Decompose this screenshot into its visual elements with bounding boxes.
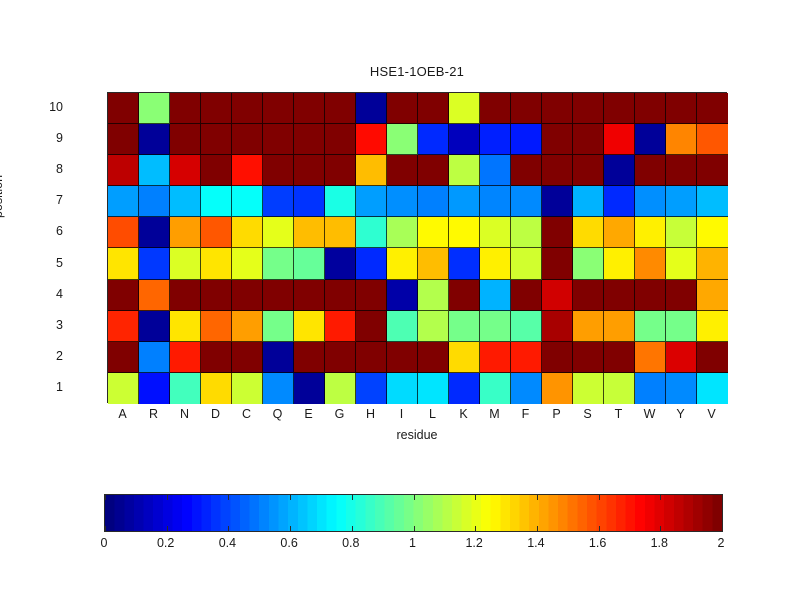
- chart-title: HSE1-1OEB-21: [107, 64, 727, 79]
- heatmap-cell: [294, 217, 325, 248]
- heatmap-cell: [666, 373, 697, 404]
- heatmap-cell: [263, 373, 294, 404]
- heatmap-cell: [542, 217, 573, 248]
- heatmap-cell: [573, 155, 604, 186]
- heatmap-cell: [170, 217, 201, 248]
- y-tick-label: 10: [23, 100, 63, 114]
- colorbar-tick-mark: [228, 495, 229, 500]
- heatmap-cell: [542, 155, 573, 186]
- heatmap-cell: [449, 373, 480, 404]
- heatmap-cell: [170, 186, 201, 217]
- heatmap-cell: [387, 311, 418, 342]
- y-tick-label: 1: [23, 380, 63, 394]
- heatmap-cell: [697, 186, 728, 217]
- heatmap-cell: [108, 280, 139, 311]
- heatmap-cell: [170, 311, 201, 342]
- x-tick-label: T: [603, 407, 634, 421]
- heatmap-cell: [387, 124, 418, 155]
- heatmap-cell: [232, 93, 263, 124]
- colorbar-tick-label: 1.6: [575, 536, 621, 550]
- heatmap-cell: [697, 93, 728, 124]
- heatmap-cell: [542, 124, 573, 155]
- x-tick-label: D: [200, 407, 231, 421]
- heatmap-cell: [325, 124, 356, 155]
- y-tick-label: 9: [23, 131, 63, 145]
- colorbar-tick-label: 1.2: [451, 536, 497, 550]
- heatmap-cell: [480, 217, 511, 248]
- heatmap-cell: [418, 124, 449, 155]
- heatmap-cell: [573, 217, 604, 248]
- x-tick-label: I: [386, 407, 417, 421]
- x-axis-label: residue: [107, 428, 727, 442]
- x-tick-label: C: [231, 407, 262, 421]
- heatmap-cell: [542, 373, 573, 404]
- heatmap-cell: [449, 248, 480, 279]
- heatmap-cell: [108, 186, 139, 217]
- heatmap-cell: [635, 342, 666, 373]
- colorbar-tick-mark: [167, 495, 168, 500]
- x-tick-label: E: [293, 407, 324, 421]
- heatmap-cell: [697, 373, 728, 404]
- heatmap-cell: [387, 280, 418, 311]
- heatmap-cell: [418, 155, 449, 186]
- heatmap-cell: [356, 217, 387, 248]
- heatmap-cell: [542, 248, 573, 279]
- heatmap-cell: [232, 342, 263, 373]
- x-tick-label: P: [541, 407, 572, 421]
- heatmap-cell: [387, 217, 418, 248]
- heatmap-cell: [511, 93, 542, 124]
- heatmap-cell: [356, 124, 387, 155]
- heatmap-cell: [418, 186, 449, 217]
- heatmap-cell: [480, 311, 511, 342]
- heatmap-cell: [542, 280, 573, 311]
- heatmap-cell: [387, 93, 418, 124]
- heatmap-cell: [604, 217, 635, 248]
- heatmap-cell: [294, 248, 325, 279]
- y-tick-label: 2: [23, 349, 63, 363]
- heatmap-cell: [666, 124, 697, 155]
- heatmap-cell: [108, 93, 139, 124]
- heatmap-cell: [418, 342, 449, 373]
- heatmap-cell: [697, 124, 728, 155]
- heatmap-cell: [635, 280, 666, 311]
- heatmap-cell: [139, 155, 170, 186]
- heatmap-cell: [697, 248, 728, 279]
- x-tick-label: K: [448, 407, 479, 421]
- heatmap-cell: [139, 342, 170, 373]
- heatmap-cell: [201, 373, 232, 404]
- heatmap-cell: [232, 155, 263, 186]
- heatmap-cell: [449, 311, 480, 342]
- colorbar-tick-mark: [475, 495, 476, 500]
- heatmap-cell: [232, 186, 263, 217]
- heatmap-cell: [604, 248, 635, 279]
- y-tick-label: 3: [23, 318, 63, 332]
- heatmap-cell: [511, 124, 542, 155]
- heatmap-cell: [480, 342, 511, 373]
- heatmap-cell: [294, 155, 325, 186]
- y-axis-label: position: [0, 175, 5, 218]
- colorbar: [104, 494, 723, 532]
- colorbar-tick-mark: [167, 526, 168, 531]
- colorbar-tick-mark: [537, 526, 538, 531]
- heatmap-cell: [387, 342, 418, 373]
- colorbar-tick-mark: [599, 495, 600, 500]
- heatmap-cell: [201, 155, 232, 186]
- heatmap-cell: [294, 342, 325, 373]
- heatmap-cell: [449, 124, 480, 155]
- colorbar-tick-mark: [660, 526, 661, 531]
- heatmap-cell: [201, 342, 232, 373]
- heatmap-cell: [387, 155, 418, 186]
- colorbar-tick-mark: [290, 526, 291, 531]
- heatmap-cell: [108, 155, 139, 186]
- heatmap-cell: [449, 186, 480, 217]
- colorbar-tick-label: 2: [698, 536, 744, 550]
- heatmap-cell: [480, 373, 511, 404]
- heatmap-cell: [139, 311, 170, 342]
- heatmap-cell: [232, 311, 263, 342]
- heatmap-cell: [480, 248, 511, 279]
- colorbar-tick-label: 1: [390, 536, 436, 550]
- colorbar-tick-mark: [352, 495, 353, 500]
- heatmap-cell: [511, 280, 542, 311]
- heatmap-cell: [325, 311, 356, 342]
- heatmap-cell: [542, 311, 573, 342]
- y-tick-label: 8: [23, 162, 63, 176]
- heatmap-cell: [263, 248, 294, 279]
- colorbar-tick-mark: [290, 495, 291, 500]
- heatmap-cell: [294, 280, 325, 311]
- heatmap-cell: [108, 124, 139, 155]
- colorbar-tick-mark: [228, 526, 229, 531]
- heatmap-cell: [139, 373, 170, 404]
- heatmap-cell: [108, 311, 139, 342]
- heatmap-cell: [573, 186, 604, 217]
- heatmap-cell: [387, 373, 418, 404]
- heatmap-cell: [294, 311, 325, 342]
- heatmap-cell: [604, 93, 635, 124]
- x-tick-label: A: [107, 407, 138, 421]
- heatmap-cell: [201, 217, 232, 248]
- heatmap-cell: [139, 124, 170, 155]
- heatmap-cell: [263, 186, 294, 217]
- heatmap-cell: [418, 280, 449, 311]
- heatmap-cell: [604, 311, 635, 342]
- heatmap-cell: [666, 186, 697, 217]
- heatmap-cell: [480, 124, 511, 155]
- x-tick-label: H: [355, 407, 386, 421]
- heatmap-cell: [418, 93, 449, 124]
- heatmap-cell: [232, 280, 263, 311]
- heatmap-cell: [511, 217, 542, 248]
- heatmap-cell: [170, 124, 201, 155]
- heatmap-cell: [449, 93, 480, 124]
- colorbar-tick-label: 0.2: [143, 536, 189, 550]
- heatmap-cell: [449, 155, 480, 186]
- heatmap-cell: [108, 373, 139, 404]
- colorbar-tick-label: 1.8: [636, 536, 682, 550]
- heatmap-cell: [325, 186, 356, 217]
- heatmap-cell: [325, 93, 356, 124]
- x-tick-label: G: [324, 407, 355, 421]
- x-tick-label: V: [696, 407, 727, 421]
- heatmap-cell: [666, 93, 697, 124]
- colorbar-tick-mark: [352, 526, 353, 531]
- heatmap-cell: [511, 311, 542, 342]
- heatmap-cell: [356, 155, 387, 186]
- heatmap-cell: [511, 373, 542, 404]
- heatmap-cell: [449, 217, 480, 248]
- heatmap-cell: [263, 155, 294, 186]
- heatmap-cell: [418, 248, 449, 279]
- heatmap-cell: [201, 280, 232, 311]
- heatmap-plot-area: [107, 92, 727, 403]
- y-tick-label: 7: [23, 193, 63, 207]
- x-tick-label: W: [634, 407, 665, 421]
- heatmap-cell: [418, 373, 449, 404]
- heatmap-cell: [232, 373, 263, 404]
- heatmap-cell: [635, 217, 666, 248]
- heatmap-cell: [356, 342, 387, 373]
- heatmap-cell: [666, 280, 697, 311]
- heatmap-cell: [666, 217, 697, 248]
- heatmap-cell: [139, 186, 170, 217]
- heatmap-cell: [356, 373, 387, 404]
- heatmap-cell: [170, 248, 201, 279]
- colorbar-tick-label: 0.6: [266, 536, 312, 550]
- heatmap-cell: [511, 342, 542, 373]
- heatmap-cell: [232, 217, 263, 248]
- heatmap-grid: [108, 93, 728, 404]
- heatmap-cell: [201, 93, 232, 124]
- colorbar-tick-mark: [599, 526, 600, 531]
- x-tick-label: S: [572, 407, 603, 421]
- heatmap-cell: [511, 248, 542, 279]
- heatmap-cell: [511, 155, 542, 186]
- heatmap-cell: [139, 93, 170, 124]
- heatmap-cell: [635, 311, 666, 342]
- heatmap-cell: [325, 217, 356, 248]
- y-tick-label: 6: [23, 224, 63, 238]
- heatmap-cell: [666, 248, 697, 279]
- heatmap-cell: [573, 280, 604, 311]
- heatmap-cell: [263, 280, 294, 311]
- heatmap-cell: [604, 124, 635, 155]
- heatmap-cell: [604, 280, 635, 311]
- colorbar-tick-mark: [475, 526, 476, 531]
- heatmap-cell: [418, 311, 449, 342]
- heatmap-cell: [356, 93, 387, 124]
- heatmap-cell: [170, 342, 201, 373]
- heatmap-cell: [294, 93, 325, 124]
- heatmap-cell: [666, 155, 697, 186]
- x-tick-label: R: [138, 407, 169, 421]
- heatmap-cell: [325, 280, 356, 311]
- heatmap-cell: [697, 217, 728, 248]
- colorbar-tick-mark: [722, 495, 723, 500]
- heatmap-cell: [449, 342, 480, 373]
- heatmap-cell: [108, 217, 139, 248]
- heatmap-cell: [604, 155, 635, 186]
- heatmap-cell: [573, 342, 604, 373]
- heatmap-cell: [325, 342, 356, 373]
- heatmap-cell: [480, 155, 511, 186]
- x-tick-label: N: [169, 407, 200, 421]
- heatmap-cell: [573, 311, 604, 342]
- x-tick-label: M: [479, 407, 510, 421]
- colorbar-tick-mark: [537, 495, 538, 500]
- heatmap-cell: [635, 186, 666, 217]
- heatmap-cell: [697, 342, 728, 373]
- heatmap-cell: [635, 124, 666, 155]
- heatmap-cell: [170, 280, 201, 311]
- heatmap-cell: [294, 186, 325, 217]
- heatmap-cell: [294, 373, 325, 404]
- heatmap-cell: [108, 342, 139, 373]
- heatmap-cell: [325, 373, 356, 404]
- heatmap-cell: [325, 248, 356, 279]
- x-tick-label: Q: [262, 407, 293, 421]
- colorbar-tick-mark: [414, 526, 415, 531]
- heatmap-cell: [356, 186, 387, 217]
- heatmap-cell: [108, 248, 139, 279]
- heatmap-cell: [170, 93, 201, 124]
- colorbar-tick-label: 0: [81, 536, 127, 550]
- colorbar-tick-mark: [414, 495, 415, 500]
- colorbar-tick-label: 1.4: [513, 536, 559, 550]
- heatmap-cell: [356, 311, 387, 342]
- heatmap-cell: [480, 280, 511, 311]
- heatmap-cell: [697, 280, 728, 311]
- heatmap-cell: [480, 186, 511, 217]
- heatmap-cell: [170, 155, 201, 186]
- heatmap-cell: [449, 280, 480, 311]
- heatmap-cell: [387, 248, 418, 279]
- heatmap-cell: [263, 342, 294, 373]
- heatmap-cell: [573, 124, 604, 155]
- heatmap-cell: [573, 248, 604, 279]
- heatmap-cell: [697, 155, 728, 186]
- x-tick-label: F: [510, 407, 541, 421]
- heatmap-cell: [263, 124, 294, 155]
- heatmap-cell: [418, 217, 449, 248]
- heatmap-cell: [232, 248, 263, 279]
- heatmap-cell: [387, 186, 418, 217]
- heatmap-cell: [139, 280, 170, 311]
- heatmap-cell: [170, 373, 201, 404]
- heatmap-cell: [604, 342, 635, 373]
- heatmap-cell: [635, 248, 666, 279]
- heatmap-cell: [573, 373, 604, 404]
- x-tick-label: Y: [665, 407, 696, 421]
- heatmap-cell: [542, 93, 573, 124]
- colorbar-tick-label: 0.4: [204, 536, 250, 550]
- heatmap-cell: [573, 93, 604, 124]
- x-tick-label: L: [417, 407, 448, 421]
- heatmap-cell: [139, 217, 170, 248]
- heatmap-cell: [604, 186, 635, 217]
- y-tick-label: 4: [23, 287, 63, 301]
- heatmap-cell: [511, 186, 542, 217]
- heatmap-cell: [201, 186, 232, 217]
- heatmap-cell: [201, 311, 232, 342]
- colorbar-tick-mark: [105, 495, 106, 500]
- heatmap-cell: [604, 373, 635, 404]
- heatmap-cell: [480, 93, 511, 124]
- heatmap-cell: [635, 373, 666, 404]
- heatmap-cell: [635, 93, 666, 124]
- y-tick-label: 5: [23, 256, 63, 270]
- heatmap-cell: [635, 155, 666, 186]
- heatmap-cell: [263, 311, 294, 342]
- heatmap-cell: [232, 124, 263, 155]
- heatmap-cell: [542, 186, 573, 217]
- heatmap-cell: [263, 93, 294, 124]
- heatmap-cell: [201, 248, 232, 279]
- colorbar-tick-mark: [660, 495, 661, 500]
- heatmap-cell: [542, 342, 573, 373]
- heatmap-cell: [666, 311, 697, 342]
- colorbar-tick-mark: [722, 526, 723, 531]
- heatmap-cell: [139, 248, 170, 279]
- heatmap-cell: [666, 342, 697, 373]
- heatmap-cell: [697, 311, 728, 342]
- heatmap-cell: [294, 124, 325, 155]
- heatmap-cell: [263, 217, 294, 248]
- heatmap-cell: [356, 248, 387, 279]
- heatmap-cell: [201, 124, 232, 155]
- colorbar-tick-mark: [105, 526, 106, 531]
- colorbar-tick-label: 0.8: [328, 536, 374, 550]
- heatmap-cell: [356, 280, 387, 311]
- heatmap-cell: [325, 155, 356, 186]
